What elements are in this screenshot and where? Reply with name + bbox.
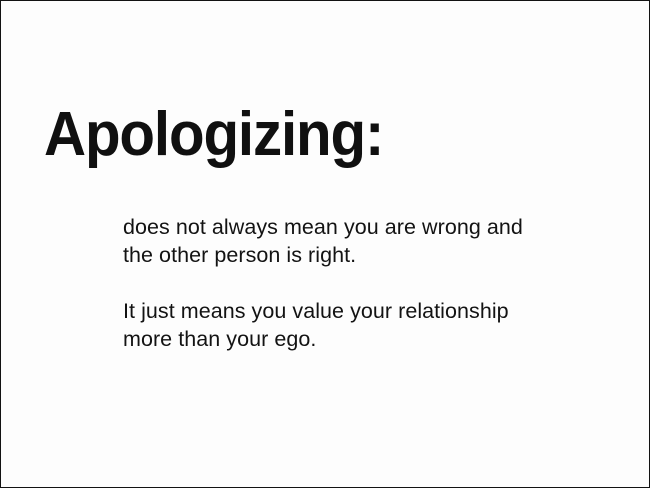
- page-title: Apologizing:: [44, 104, 383, 166]
- quote-paragraph-1: does not always mean you are wrong and t…: [123, 213, 623, 269]
- quote-poster: Apologizing: does not always mean you ar…: [0, 0, 650, 488]
- quote-line: does not always mean you are wrong and: [123, 213, 623, 241]
- quote-line: more than your ego.: [123, 325, 623, 353]
- quote-line: It just means you value your relationshi…: [123, 297, 623, 325]
- quote-body: does not always mean you are wrong and t…: [123, 213, 623, 353]
- quote-paragraph-2: It just means you value your relationshi…: [123, 297, 623, 353]
- quote-line: the other person is right.: [123, 241, 623, 269]
